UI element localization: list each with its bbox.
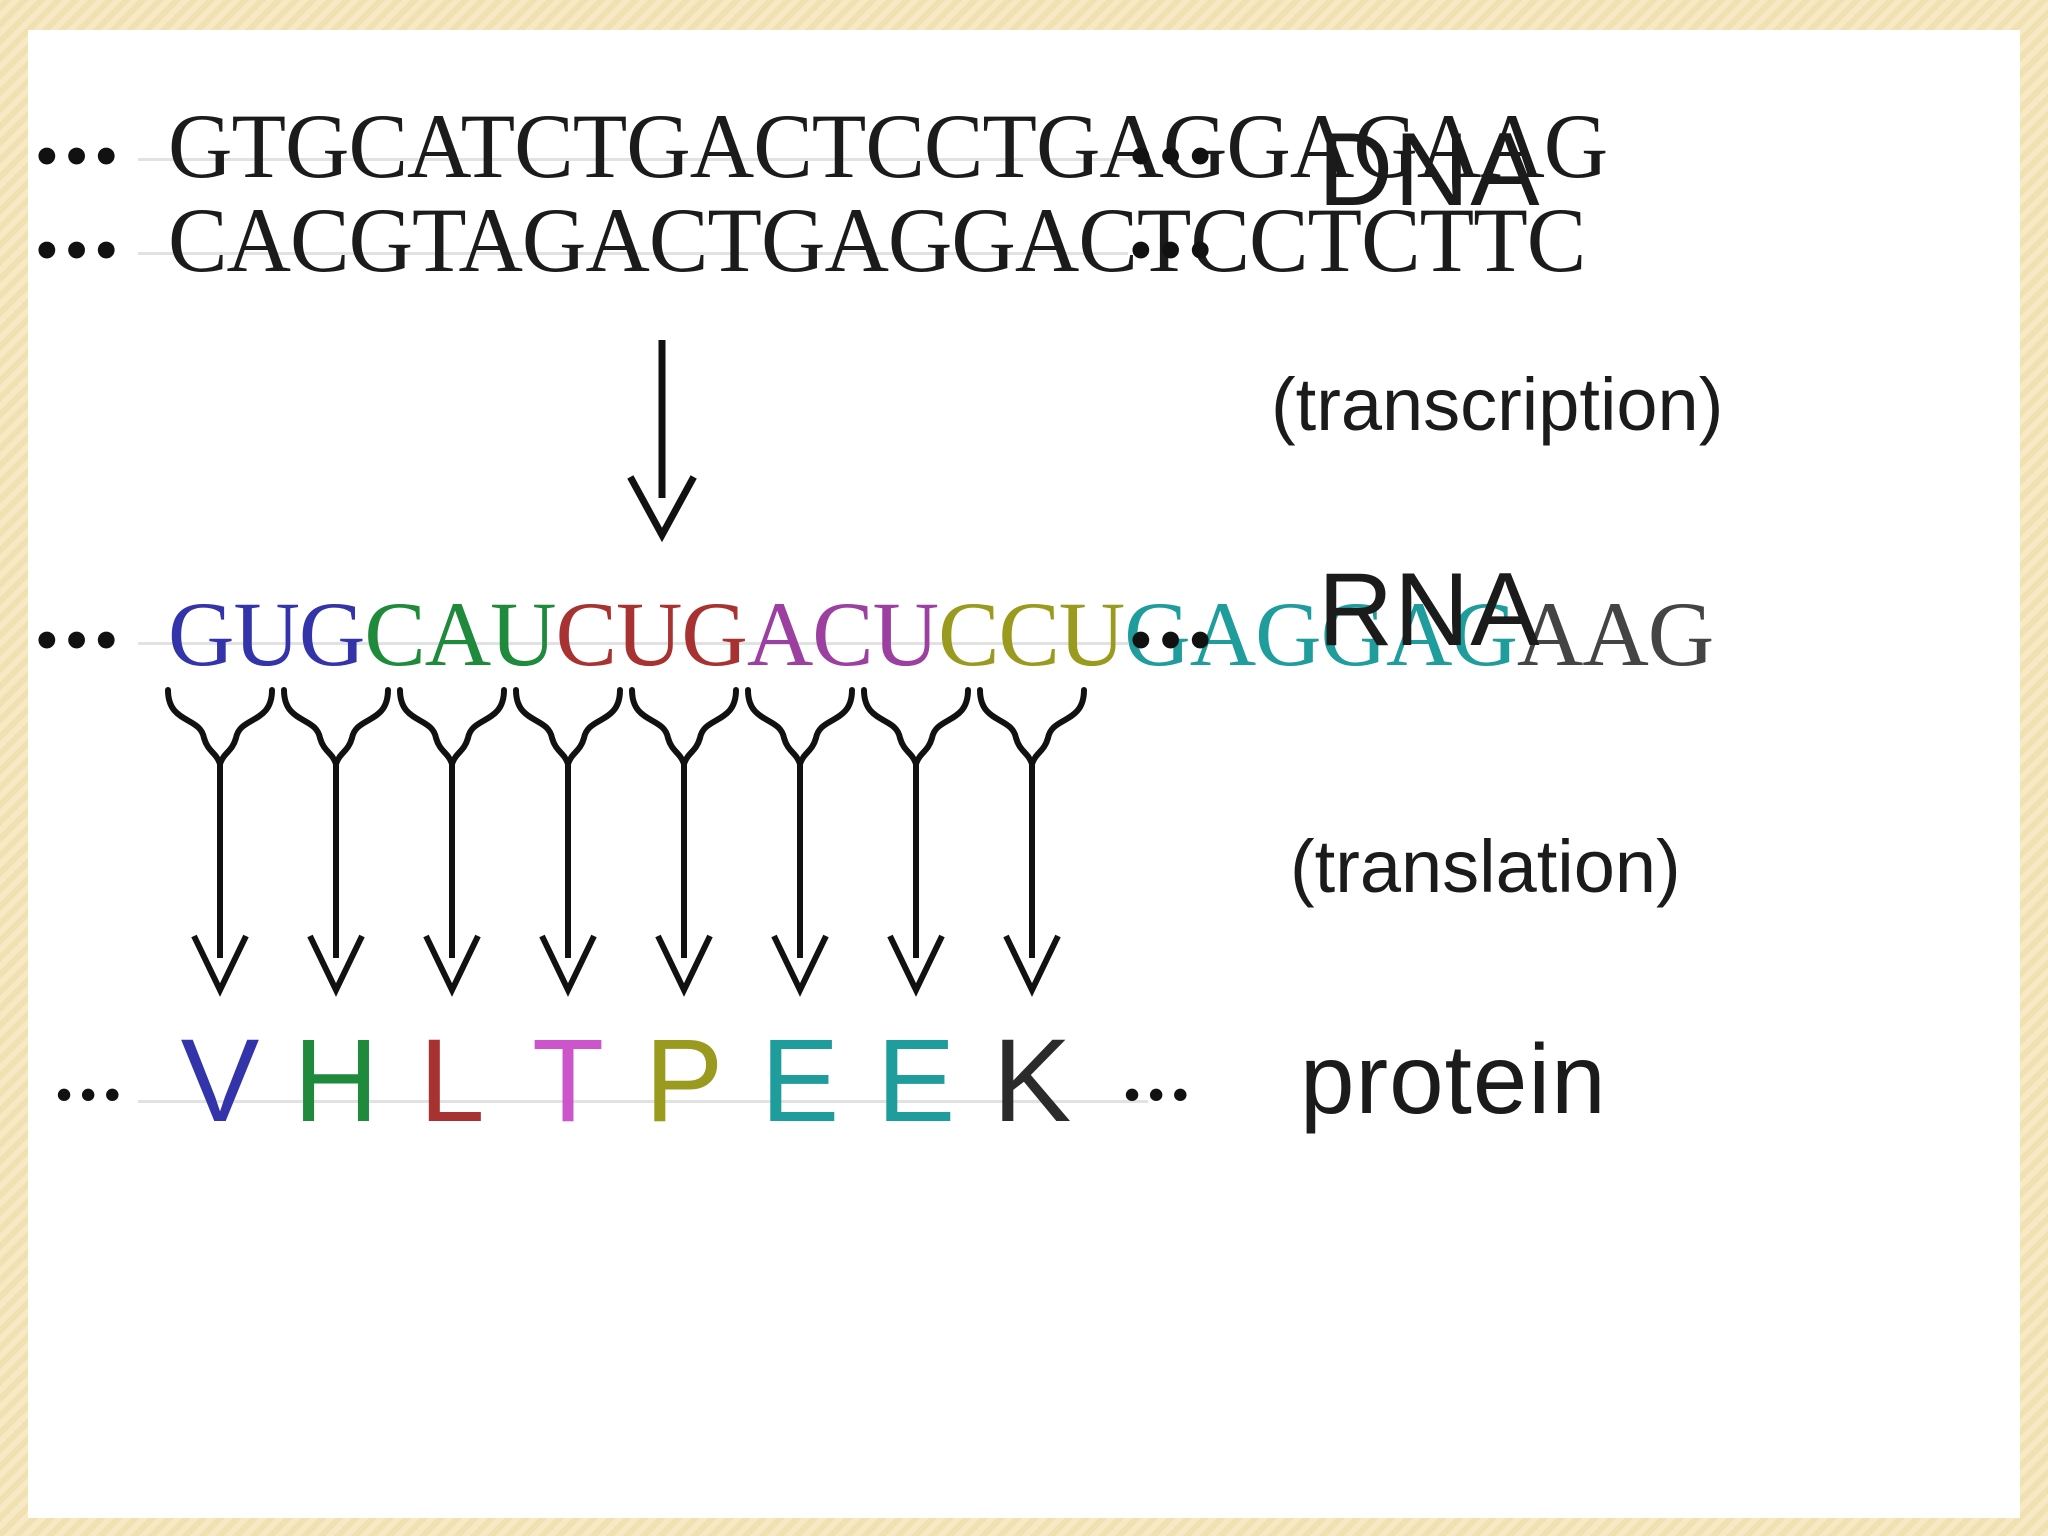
protein-sequence: VHLTPEEK [28, 30, 1228, 1230]
translation-label: (translation) [1290, 830, 1681, 904]
protein-stage-label: protein [1300, 1030, 1607, 1128]
slide-content-area: ••• ••• GTGCATCTGACTCCTGAGGAGAAG CACGTAG… [28, 30, 2020, 1518]
slide-background: ••• ••• GTGCATCTGACTCCTGAGGAGAAG CACGTAG… [0, 0, 2048, 1536]
rna-stage-label: RNA [1318, 558, 1541, 662]
protein-residue-1: V [181, 1022, 260, 1140]
protein-right-ellipsis: ••• [1124, 1072, 1196, 1118]
protein-residue-5: P [645, 1022, 724, 1140]
protein-residue-7: E [877, 1022, 956, 1140]
protein-residue-2: H [293, 1022, 378, 1140]
protein-residue-4: T [532, 1022, 604, 1140]
central-dogma-diagram: ••• ••• GTGCATCTGACTCCTGAGGAGAAG CACGTAG… [28, 30, 2020, 1518]
protein-residue-6: E [761, 1022, 840, 1140]
protein-residue-3: L [419, 1022, 485, 1140]
rna-codon-8: AAG [1517, 583, 1713, 685]
protein-residue-8: K [993, 1022, 1072, 1140]
transcription-label: (transcription) [1271, 368, 1723, 442]
dna-stage-label: DNA [1318, 118, 1541, 222]
